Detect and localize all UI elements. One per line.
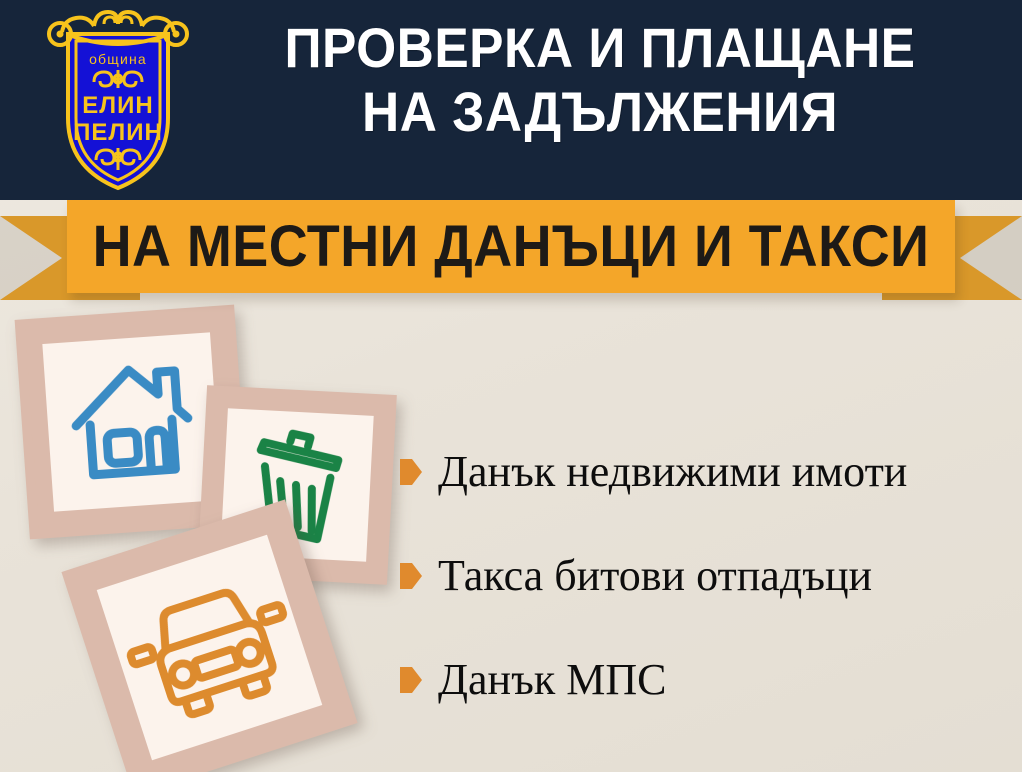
arrow-bullet-icon [400, 459, 422, 485]
ribbon-banner: НА МЕСТНИ ДАНЪЦИ И ТАКСИ [0, 196, 1022, 306]
list-item-label: Данък МПС [438, 658, 666, 702]
list-item-waste-fee[interactable]: Такса битови отпадъци [400, 524, 1010, 628]
list-item-vehicle-tax[interactable]: Данък МПС [400, 628, 1010, 732]
tax-type-list: Данък недвижими имоти Такса битови отпад… [400, 420, 1010, 732]
ribbon-main-panel: НА МЕСТНИ ДАНЪЦИ И ТАКСИ [67, 200, 955, 293]
arrow-bullet-icon [400, 563, 422, 589]
list-item-label: Такса битови отпадъци [438, 554, 872, 598]
svg-text:ПЕЛИН: ПЕЛИН [73, 119, 163, 146]
list-item-property-tax[interactable]: Данък недвижими имоти [400, 420, 1010, 524]
page-title: ПРОВЕРКА И ПЛАЩАНЕ НА ЗАДЪЛЖЕНИЯ [223, 16, 977, 144]
svg-text:община: община [89, 51, 147, 67]
municipality-logo: община ЕЛИН ПЕЛИН [38, 8, 198, 194]
arrow-bullet-icon [400, 667, 422, 693]
coat-of-arms-icon: община ЕЛИН ПЕЛИН [38, 8, 198, 194]
list-item-label: Данък недвижими имоти [438, 450, 907, 494]
svg-text:ЕЛИН: ЕЛИН [82, 92, 153, 119]
poster-canvas: ПРОВЕРКА И ПЛАЩАНЕ НА ЗАДЪЛЖЕНИЯ об [0, 0, 1022, 772]
page-title-line-2: НА ЗАДЪЛЖЕНИЯ [223, 80, 977, 144]
ribbon-label: НА МЕСТНИ ДАНЪЦИ И ТАКСИ [98, 200, 924, 293]
page-title-line-1: ПРОВЕРКА И ПЛАЩАНЕ [223, 16, 977, 80]
